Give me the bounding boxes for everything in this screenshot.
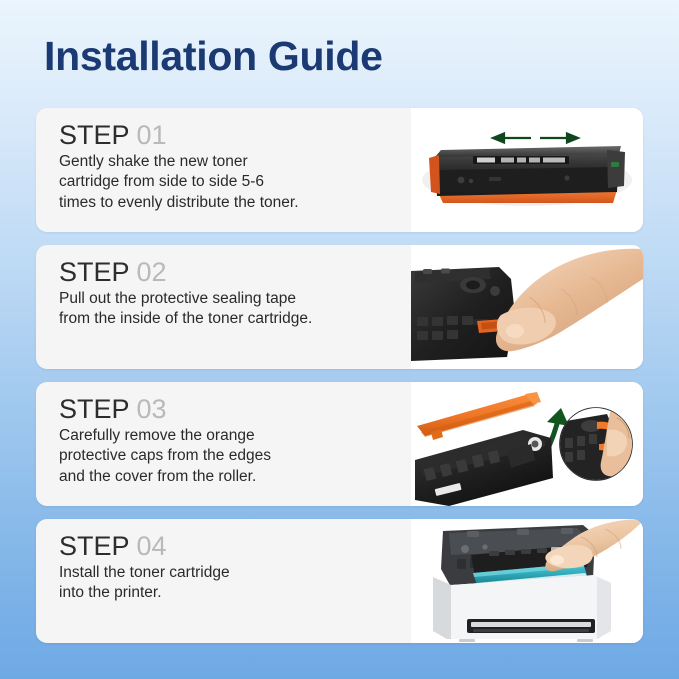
- step-text-01: STEP01 Gently shake the new toner cartri…: [36, 108, 411, 232]
- step-card-04: STEP04 Install the toner cartridge into …: [36, 519, 643, 643]
- step-label-03: STEP: [59, 394, 130, 424]
- step-number-02: 02: [137, 257, 167, 287]
- step-description-04: Install the toner cartridge into the pri…: [59, 563, 411, 603]
- step-illustration-04: [411, 519, 643, 643]
- step-label-01: STEP: [59, 120, 130, 150]
- page-title: Installation Guide: [44, 36, 383, 77]
- step-illustration-01: [411, 108, 643, 232]
- steps-list: STEP01 Gently shake the new toner cartri…: [36, 108, 643, 656]
- step-text-04: STEP04 Install the toner cartridge into …: [36, 519, 411, 643]
- step-illustration-03: [411, 382, 643, 506]
- step-illustration-02: [411, 245, 643, 369]
- step-card-01: STEP01 Gently shake the new toner cartri…: [36, 108, 643, 232]
- step-heading-04: STEP04: [59, 532, 411, 560]
- step-heading-03: STEP03: [59, 395, 411, 423]
- step-number-04: 04: [137, 531, 167, 561]
- step-description-02: Pull out the protective sealing tape fro…: [59, 289, 411, 329]
- step-description-01: Gently shake the new toner cartridge fro…: [59, 152, 411, 212]
- step-card-03: STEP03 Carefully remove the orange prote…: [36, 382, 643, 506]
- step-number-03: 03: [137, 394, 167, 424]
- installation-guide-page: Installation Guide STEP01 Gently shake t…: [0, 0, 679, 679]
- hand-pulling-sealing-tape-icon: [411, 245, 643, 369]
- step-description-03: Carefully remove the orange protective c…: [59, 426, 411, 486]
- step-text-02: STEP02 Pull out the protective sealing t…: [36, 245, 411, 369]
- step-heading-01: STEP01: [59, 121, 411, 149]
- step-label-04: STEP: [59, 531, 130, 561]
- step-number-01: 01: [137, 120, 167, 150]
- step-card-02: STEP02 Pull out the protective sealing t…: [36, 245, 643, 369]
- step-label-02: STEP: [59, 257, 130, 287]
- orange-cover-removal-icon: [411, 382, 643, 506]
- step-heading-02: STEP02: [59, 258, 411, 286]
- step-text-03: STEP03 Carefully remove the orange prote…: [36, 382, 411, 506]
- installing-cartridge-in-printer-icon: [411, 519, 643, 643]
- toner-cartridge-shake-icon: [411, 108, 643, 232]
